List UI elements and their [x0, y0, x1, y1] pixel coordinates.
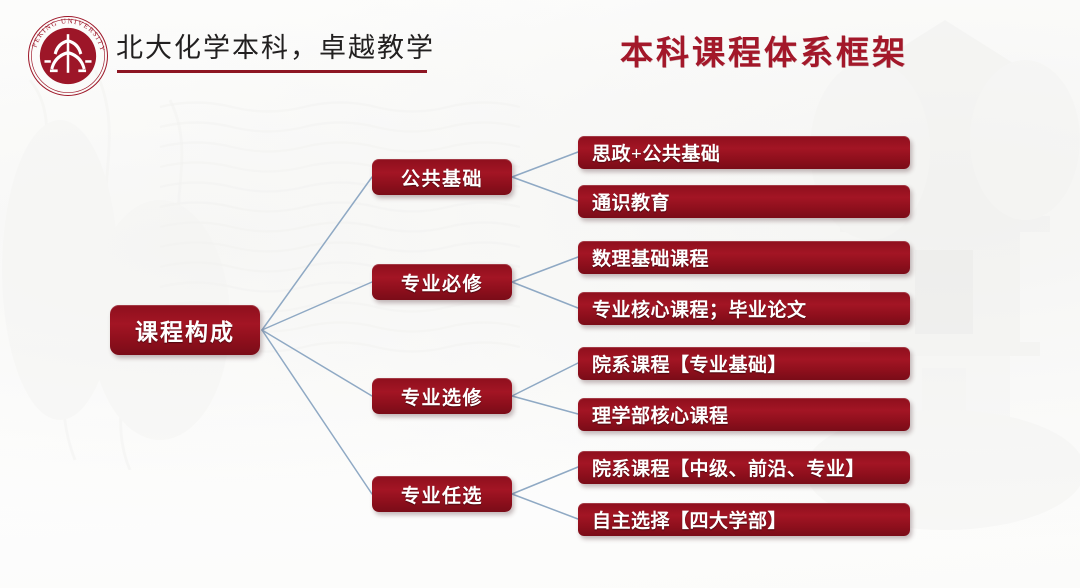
node-leaf-science-division-core[interactable]: 理学部核心课程 — [578, 398, 910, 431]
node-branch-major-free-elective[interactable]: 专业任选 — [372, 476, 512, 512]
node-leaf-label: 数理基础课程 — [592, 244, 709, 271]
node-branch-major-required[interactable]: 专业必修 — [372, 264, 512, 300]
node-leaf-math-physics-foundation[interactable]: 数理基础课程 — [578, 241, 910, 274]
course-structure-diagram: 课程构成 公共基础 专业必修 专业选修 专业任选 思政+公共基础 通识教育 数理… — [0, 0, 1080, 588]
node-branch-major-elective[interactable]: 专业选修 — [372, 378, 512, 414]
node-leaf-label: 专业核心课程；毕业论文 — [592, 295, 807, 322]
node-branch-label: 专业任选 — [401, 481, 483, 508]
node-leaf-general-education[interactable]: 通识教育 — [578, 185, 910, 218]
node-leaf-label: 通识教育 — [592, 188, 670, 215]
node-leaf-free-choice-four-divisions[interactable]: 自主选择【四大学部】 — [578, 503, 910, 536]
node-leaf-label: 院系课程【中级、前沿、专业】 — [592, 454, 865, 481]
node-leaf-label: 思政+公共基础 — [592, 139, 720, 166]
node-leaf-label: 理学部核心课程 — [592, 401, 729, 428]
node-leaf-department-course-major-basis[interactable]: 院系课程【专业基础】 — [578, 347, 910, 380]
node-branch-label: 专业选修 — [401, 383, 483, 410]
node-branch-label: 公共基础 — [401, 164, 483, 191]
node-root[interactable]: 课程构成 — [110, 305, 260, 355]
node-leaf-ideological-public-foundation[interactable]: 思政+公共基础 — [578, 136, 910, 169]
node-leaf-department-course-advanced[interactable]: 院系课程【中级、前沿、专业】 — [578, 451, 910, 484]
slide-canvas: PEKING UNIVERSITY 1898 北大化学本科，卓越教学 本科课程体… — [0, 0, 1080, 588]
node-leaf-label: 院系课程【专业基础】 — [592, 350, 787, 377]
node-branch-public-foundation[interactable]: 公共基础 — [372, 159, 512, 195]
node-branch-label: 专业必修 — [401, 269, 483, 296]
node-leaf-label: 自主选择【四大学部】 — [592, 506, 787, 533]
node-leaf-major-core-thesis[interactable]: 专业核心课程；毕业论文 — [578, 292, 910, 325]
diagram-connectors — [0, 0, 1080, 588]
node-root-label: 课程构成 — [135, 313, 235, 347]
